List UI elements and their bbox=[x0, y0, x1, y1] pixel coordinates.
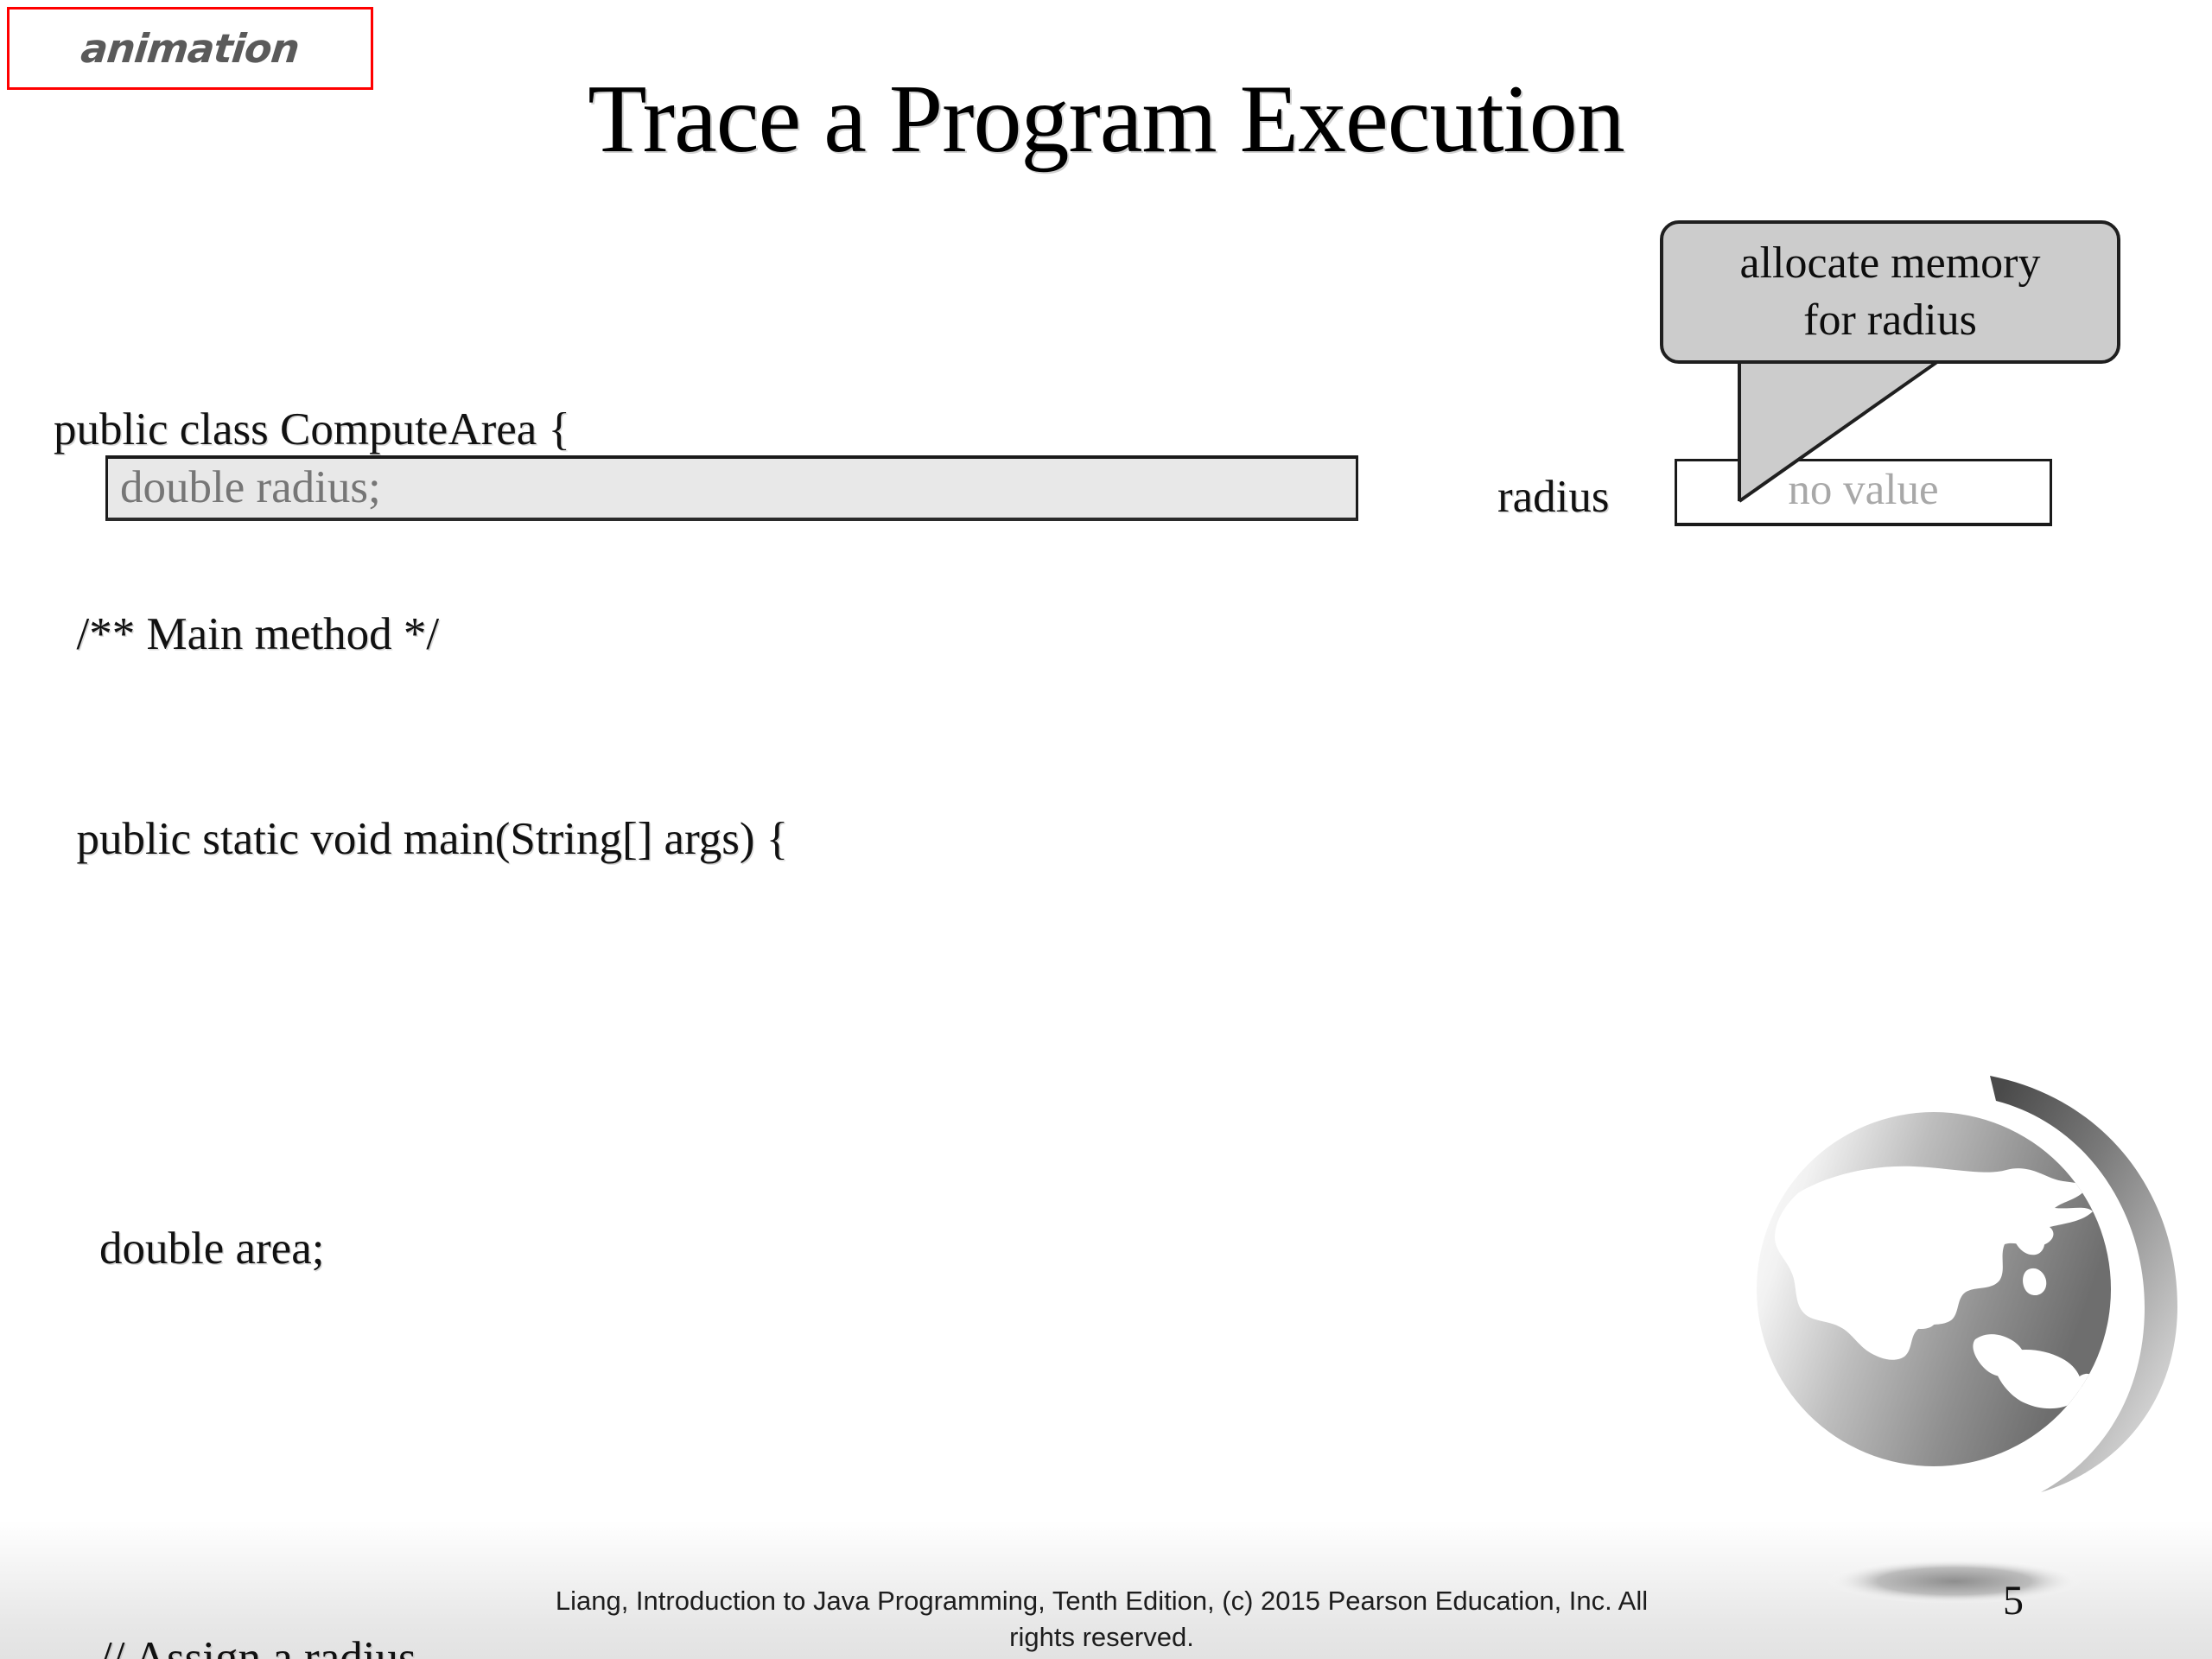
slide-canvas: animation Trace a Program Execution publ… bbox=[0, 0, 2212, 1659]
callout-line-2: for radius bbox=[1803, 292, 1977, 349]
page-number: 5 bbox=[2003, 1577, 2024, 1624]
callout-line-1: allocate memory bbox=[1740, 235, 2041, 292]
highlighted-code-text: double radius; bbox=[120, 454, 381, 522]
code-line: double area; bbox=[54, 1215, 1522, 1283]
code-line-blank bbox=[54, 1420, 1522, 1488]
callout-tail-icon bbox=[1660, 341, 2005, 514]
footer-line-1: Liang, Introduction to Java Programming,… bbox=[441, 1583, 1763, 1619]
highlighted-code-statement: double radius; bbox=[105, 455, 1358, 521]
footer-copyright: Liang, Introduction to Java Programming,… bbox=[441, 1583, 1763, 1656]
code-line: /** Main method */ bbox=[54, 601, 1522, 669]
globe-logo-icon bbox=[1737, 1063, 2203, 1616]
code-line: public static void main(String[] args) { bbox=[54, 805, 1522, 874]
callout-balloon: allocate memory for radius bbox=[1660, 220, 2120, 364]
footer-line-2: rights reserved. bbox=[441, 1619, 1763, 1656]
memory-variable-label: radius bbox=[1497, 471, 1610, 523]
page-title: Trace a Program Execution bbox=[0, 71, 2212, 168]
animation-badge-label: animation bbox=[79, 25, 301, 72]
code-line-placeholder-highlighted bbox=[54, 1010, 1522, 1078]
